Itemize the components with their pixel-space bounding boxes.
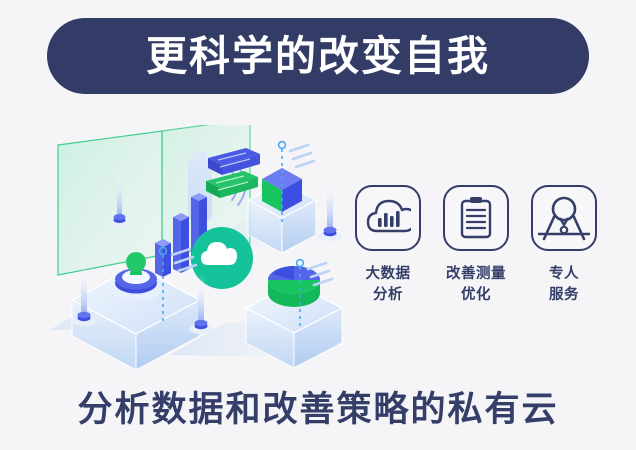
clipboard-icon bbox=[443, 185, 509, 251]
feature-big-data-analysis: 大数据 分析 bbox=[352, 185, 424, 330]
feature-label: 改善测量 优化 bbox=[446, 264, 506, 306]
isometric-illustration bbox=[50, 125, 350, 370]
feature-label-line1: 大数据 bbox=[366, 264, 411, 285]
pie-chart-3d bbox=[268, 266, 320, 307]
feature-list: 大数据 分析 改善测量 优化 bbox=[352, 185, 600, 330]
feature-label-line1: 改善测量 bbox=[446, 264, 506, 285]
feature-improvement-measurement: 改善测量 优化 bbox=[440, 185, 512, 330]
feature-label: 专人 服务 bbox=[549, 264, 579, 306]
feature-label-line2: 服务 bbox=[549, 285, 579, 306]
header-pill: 更科学的改变自我 bbox=[47, 18, 589, 94]
page-title: 更科学的改变自我 bbox=[146, 36, 490, 77]
service-person-icon bbox=[531, 185, 597, 251]
promo-banner: 更科学的改变自我 bbox=[0, 0, 636, 450]
feature-label: 大数据 分析 bbox=[366, 264, 411, 306]
cloud-bar-chart-icon bbox=[355, 185, 421, 251]
feature-label-line1: 专人 bbox=[549, 264, 579, 285]
feature-label-line2: 优化 bbox=[446, 285, 506, 306]
feature-dedicated-service: 专人 服务 bbox=[528, 185, 600, 330]
tagline: 分析数据和改善策略的私有云 bbox=[0, 381, 636, 432]
feature-label-line2: 分析 bbox=[366, 285, 411, 306]
